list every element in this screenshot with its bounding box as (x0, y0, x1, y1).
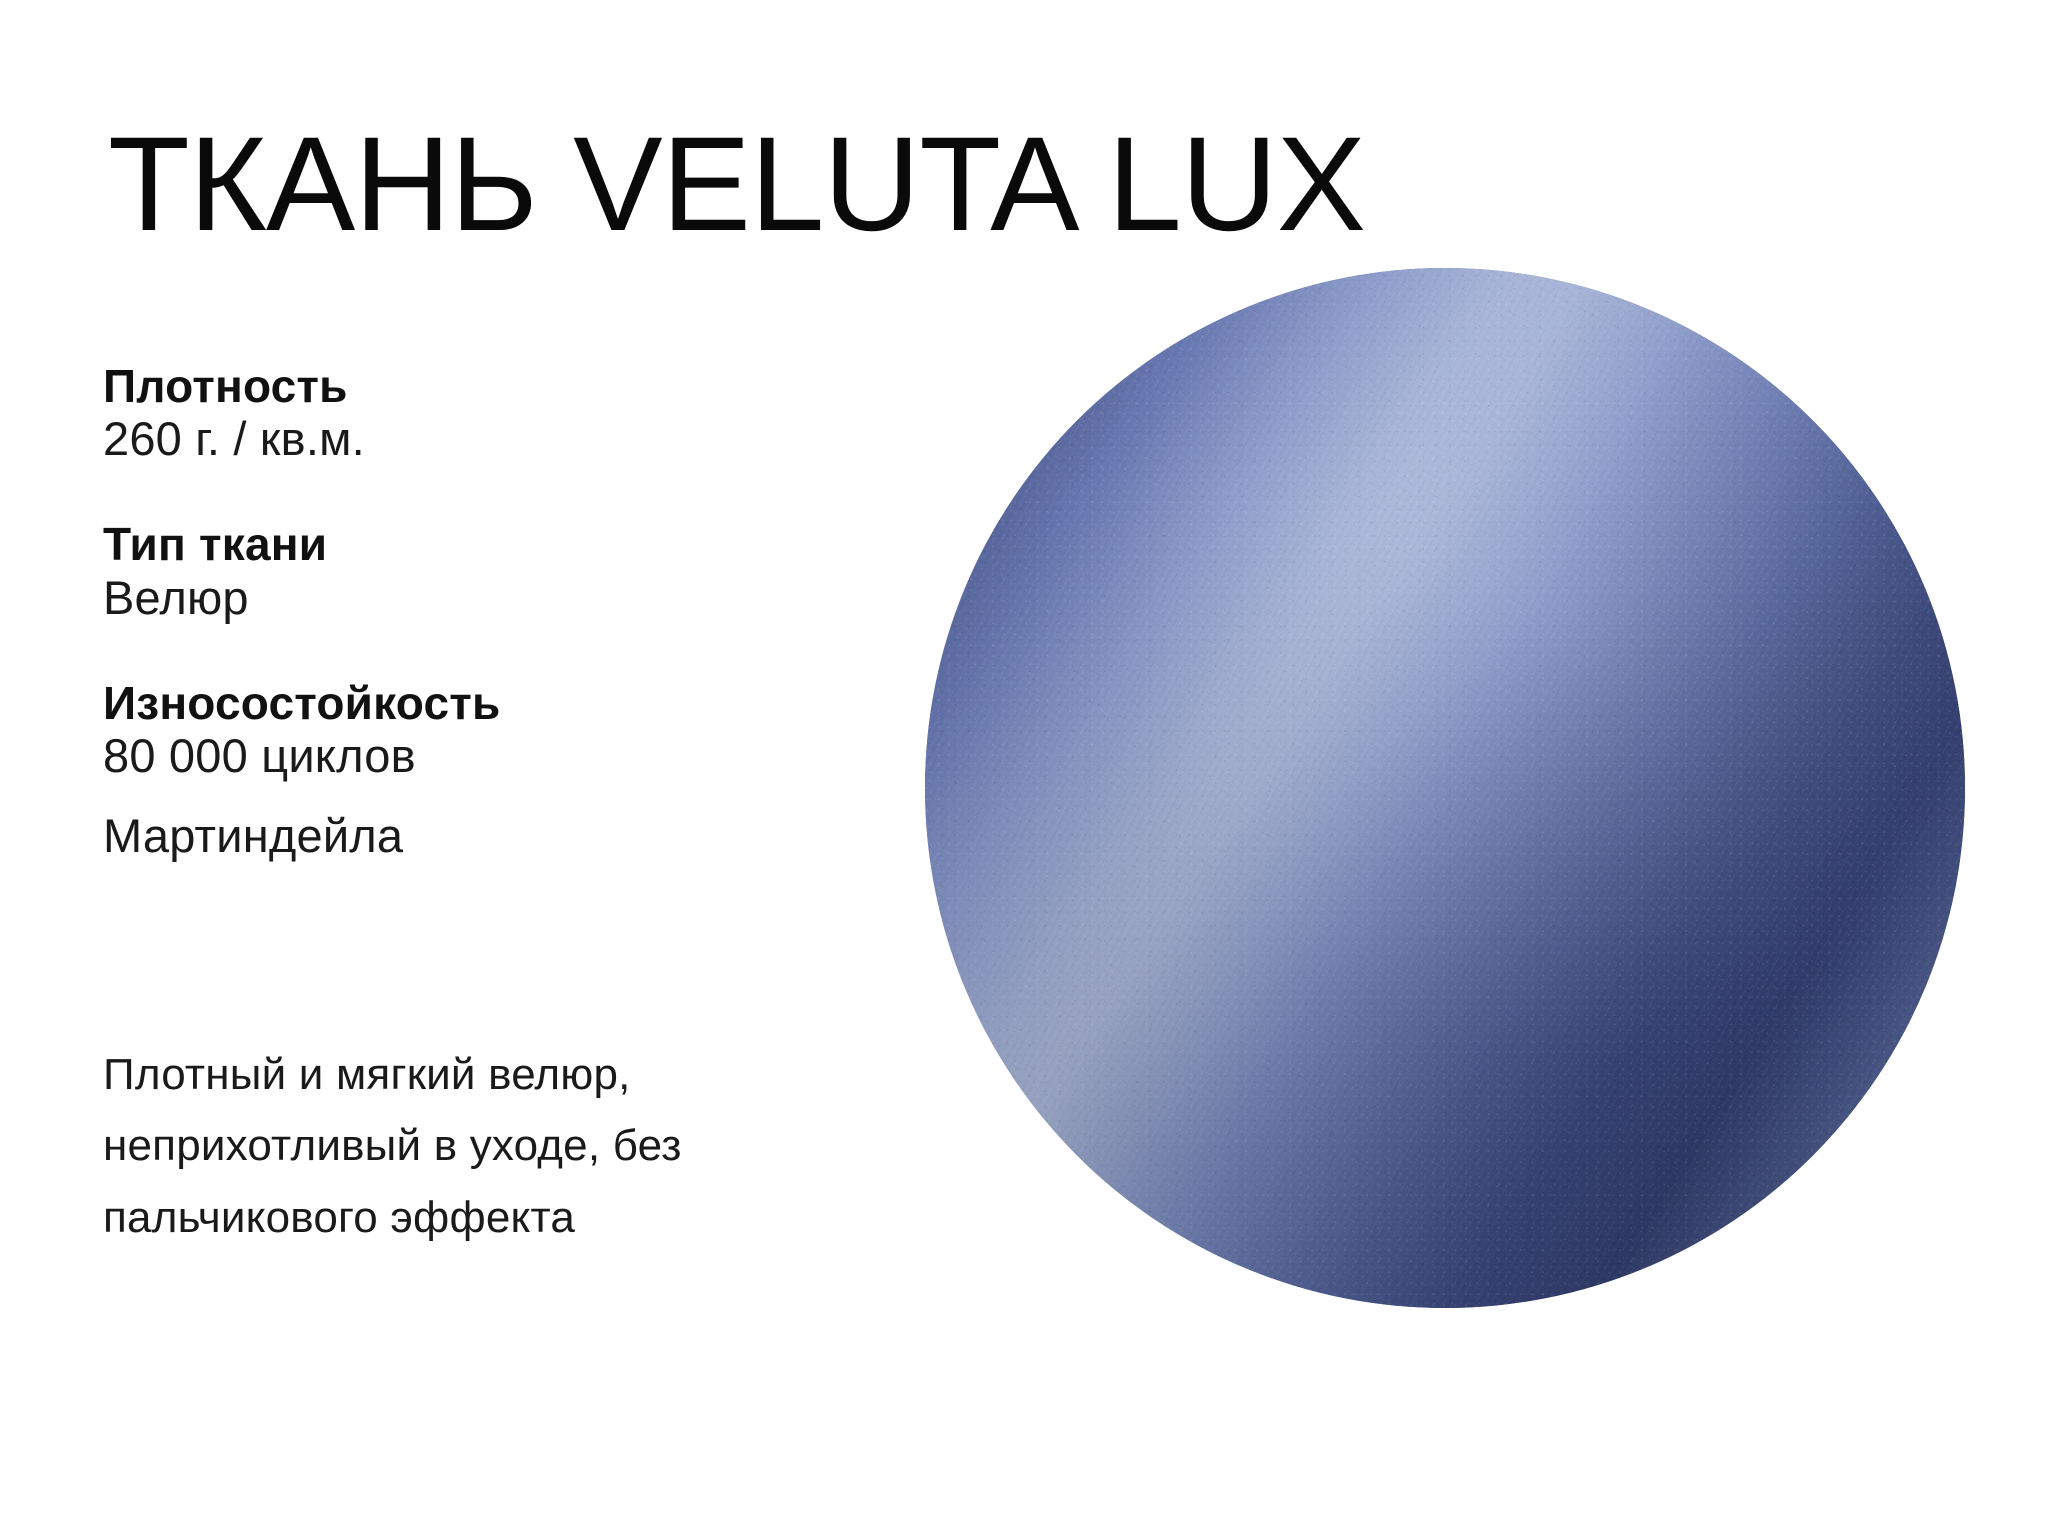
description-line-1: Плотный и мягкий велюр, (103, 1039, 983, 1110)
spec-item-fabric-type: Тип ткани Велюр (103, 518, 923, 624)
spec-label-durability: Износостойкость (103, 677, 923, 729)
spec-value-durability-standard: Мартиндейла (103, 809, 923, 863)
description-line-2: неприхотливый в уходе, без (103, 1110, 983, 1181)
spec-value-fabric-type: Велюр (103, 571, 923, 625)
fabric-description: Плотный и мягкий велюр, неприхотливый в … (103, 1039, 983, 1253)
spec-value-durability: 80 000 циклов (103, 729, 923, 783)
spec-item-density: Плотность 260 г. / кв.м. (103, 360, 923, 466)
fabric-swatch-image (925, 268, 1965, 1308)
description-line-3: пальчикового эффекта (103, 1182, 983, 1253)
fabric-vignette (925, 268, 1965, 1308)
spec-item-durability: Износостойкость 80 000 циклов Мартиндейл… (103, 677, 923, 864)
spec-value-density: 260 г. / кв.м. (103, 412, 923, 466)
spec-label-fabric-type: Тип ткани (103, 518, 923, 570)
slide-root: ТКАНЬ VELUTA LUX Плотность 260 г. / кв.м… (0, 0, 2048, 1536)
page-title: ТКАНЬ VELUTA LUX (108, 118, 1365, 252)
spec-list: Плотность 260 г. / кв.м. Тип ткани Велюр… (103, 360, 923, 864)
spec-label-density: Плотность (103, 360, 923, 412)
